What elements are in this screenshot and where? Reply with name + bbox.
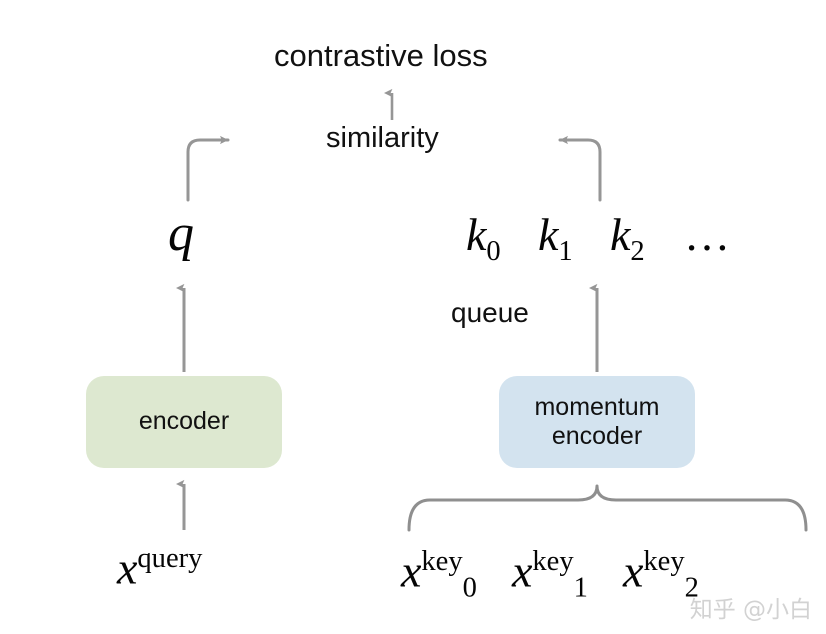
arrow-q-to-similarity [188, 140, 228, 200]
query-input-superscript: query [137, 543, 202, 574]
moco-architecture-diagram: contrastive loss similarity queue q k0 k… [0, 0, 826, 634]
key-representation-2-base: k [610, 209, 630, 260]
contrastive-loss-title: contrastive loss [274, 40, 488, 71]
similarity-label: similarity [326, 124, 439, 153]
momentum-encoder-box-label: momentumencoder [534, 393, 659, 452]
key-representation-2: k2 [610, 212, 645, 267]
encoder-box-label: encoder [139, 407, 229, 437]
momentum-encoder-box[interactable]: momentumencoder [499, 376, 695, 468]
key-representation-2-subscript: 2 [630, 236, 644, 267]
momentum-encoder-line-1: momentum [534, 393, 659, 421]
key-input-2-superscript: key [643, 546, 684, 577]
key-representation-0-subscript: 0 [486, 236, 500, 267]
query-input-symbol: xquery [117, 545, 202, 591]
key-input-symbol-1: xkey1 [512, 548, 588, 603]
key-input-symbol-2: xkey2 [623, 548, 699, 603]
connector-layer [0, 0, 826, 634]
key-representation-1: k1 [538, 212, 573, 267]
key-input-1-superscript: key [532, 546, 573, 577]
key-representation-0-base: k [466, 209, 486, 260]
key-representation-1-subscript: 1 [558, 236, 572, 267]
key-input-2-base: x [623, 545, 643, 596]
query-representation-symbol: q [168, 208, 194, 260]
key-inputs-brace [409, 486, 806, 530]
key-input-0-superscript: key [421, 546, 462, 577]
key-representation-ellipsis: … [684, 212, 730, 258]
queue-label: queue [451, 299, 529, 327]
key-input-1-subscript: 1 [574, 573, 588, 604]
query-input-base: x [117, 542, 137, 593]
watermark: 知乎 @小白 [690, 599, 812, 622]
encoder-box[interactable]: encoder [86, 376, 282, 468]
arrow-k-to-similarity [560, 140, 600, 200]
key-input-1-base: x [512, 545, 532, 596]
key-representation-1-base: k [538, 209, 558, 260]
key-input-0-subscript: 0 [463, 573, 477, 604]
momentum-encoder-line-2: encoder [552, 422, 642, 450]
key-input-0-base: x [401, 545, 421, 596]
key-representation-0: k0 [466, 212, 501, 267]
key-input-symbol-0: xkey0 [401, 548, 477, 603]
